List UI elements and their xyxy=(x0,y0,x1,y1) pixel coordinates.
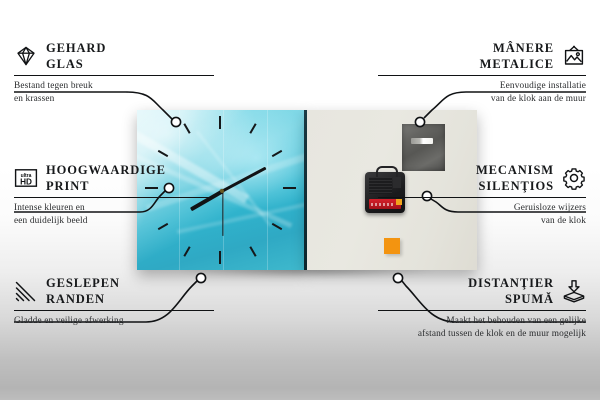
feature-title: GESLEPENRANDEN xyxy=(46,275,120,307)
hanger-slot xyxy=(411,138,433,144)
feature-desc: Gladde en veilige afwerking xyxy=(14,315,214,328)
feature-title: DISTANŢIERSPUMĂ xyxy=(468,275,554,307)
feature-desc: Geruisloze wijzersvan de klok xyxy=(378,202,586,227)
feature-desc: Bestand tegen breuken krassen xyxy=(14,80,214,105)
foam-spacer xyxy=(384,238,400,254)
feature-gehard-glas[interactable]: GEHARDGLAS Bestand tegen breuken krassen xyxy=(14,40,214,105)
minute-hand xyxy=(222,167,267,193)
product-infographic: GEHARDGLAS Bestand tegen breuken krassen… xyxy=(0,0,600,400)
feature-divider xyxy=(378,75,586,76)
feature-divider xyxy=(378,197,586,198)
bevelled-edge-icon xyxy=(14,279,38,303)
feature-title: GEHARDGLAS xyxy=(46,40,106,72)
clock-center-pin xyxy=(220,189,224,193)
ultra-hd-icon: ultra HD xyxy=(14,166,38,190)
feature-manere-metalice[interactable]: MÂNEREMETALICE Eenvoudige installatievan… xyxy=(378,40,586,105)
feature-divider xyxy=(14,310,214,311)
picture-frame-hook-icon xyxy=(562,44,586,68)
feature-geslepen-randen[interactable]: GESLEPENRANDEN Gladde en veilige afwerki… xyxy=(14,275,214,328)
feature-mecanism-silentios[interactable]: MECANISMSILENŢIOS Geruisloze wijzersvan … xyxy=(378,162,586,227)
feature-hoogwaardige-print[interactable]: ultra HD HOOGWAARDIGEPRINT Intense kleur… xyxy=(14,162,214,227)
second-hand xyxy=(222,191,223,236)
feature-desc: Maakt het behouden van een gelijkeafstan… xyxy=(378,315,586,340)
feature-divider xyxy=(378,310,586,311)
feature-desc: Eenvoudige installatievan de klok aan de… xyxy=(378,80,586,105)
diamond-icon xyxy=(14,44,38,68)
feature-title: MECANISMSILENŢIOS xyxy=(476,162,554,194)
feature-desc: Intense kleuren eneen duidelijk beeld xyxy=(14,202,214,227)
feature-divider xyxy=(14,75,214,76)
gear-icon xyxy=(562,166,586,190)
feature-title: MÂNEREMETALICE xyxy=(480,40,554,72)
feature-title: HOOGWAARDIGEPRINT xyxy=(46,162,166,194)
svg-text:HD: HD xyxy=(20,177,32,186)
feature-divider xyxy=(14,197,214,198)
feature-distantier-spuma[interactable]: DISTANŢIERSPUMĂ Maakt het behouden van e… xyxy=(378,275,586,340)
foam-spacer-arrow-icon xyxy=(562,279,586,303)
